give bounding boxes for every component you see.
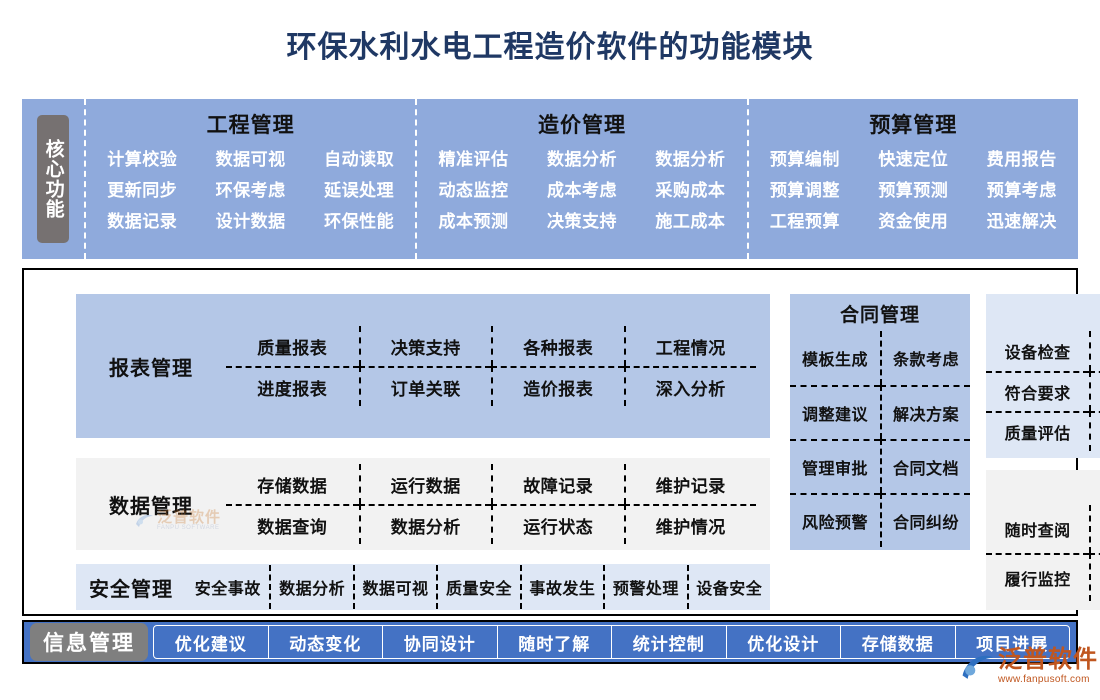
core-cell[interactable]: 预算考虑 (970, 176, 1074, 201)
module-cell[interactable]: 及时补充 (1089, 411, 1100, 451)
core-cell[interactable]: 成本考虑 (530, 176, 634, 201)
core-cell[interactable]: 更新同步 (90, 176, 194, 201)
core-cell[interactable]: 数据记录 (90, 207, 194, 232)
core-cell[interactable]: 环保考虑 (198, 176, 302, 201)
core-cell[interactable]: 数据分析 (530, 145, 634, 170)
module-cell[interactable]: 进度报表 (226, 366, 359, 406)
bottom-bar-item[interactable]: 统计控制 (611, 626, 726, 658)
core-column-grid: 计算校验 数据可视 自动读取 更新同步 环保考虑 延误处理 数据记录 设计数据 … (90, 145, 411, 232)
core-cell[interactable]: 迅速解决 (970, 207, 1074, 232)
module-data-grid: 存储数据 运行数据 故障记录 维护记录 数据查询 数据分析 运行状态 维护情况 (226, 464, 756, 544)
module-cell[interactable]: 经验借鉴 (1089, 505, 1100, 553)
core-cell[interactable]: 数据分析 (638, 145, 742, 170)
module-cell[interactable]: 各种报表 (491, 326, 624, 366)
module-cell[interactable]: 合同纠纷 (880, 493, 970, 547)
module-cell[interactable]: 解决方案 (880, 385, 970, 439)
module-cell[interactable]: 故障记录 (491, 464, 624, 504)
module-cell[interactable]: 履行监控 (986, 553, 1089, 601)
module-quality-grid: 设备检查 统一管理 质量检查 符合要求 设备状况 自动预警 质量评估 及时补充 … (986, 331, 1100, 451)
core-column-title: 造价管理 (538, 109, 626, 139)
module-cell[interactable]: 统一管理 (1089, 331, 1100, 371)
core-cell[interactable]: 动态监控 (421, 176, 525, 201)
core-cell[interactable]: 资金使用 (861, 207, 965, 232)
module-contract-management: 合同管理 模板生成 条款考虑 调整建议 解决方案 管理审批 合同文档 风险预警 … (790, 294, 970, 550)
core-column-grid: 精准评估 数据分析 数据分析 动态监控 成本考虑 采购成本 成本预测 决策支持 … (421, 145, 742, 232)
bottom-bar-item[interactable]: 随时了解 (497, 626, 612, 658)
module-cell[interactable]: 决策支持 (359, 326, 492, 366)
bottom-bar-items: 优化建议 动态变化 协同设计 随时了解 统计控制 优化设计 存储数据 项目进展 (153, 625, 1070, 659)
module-cell[interactable]: 运行状态 (491, 504, 624, 544)
core-cell[interactable]: 计算校验 (90, 145, 194, 170)
module-cell[interactable]: 造价报表 (491, 366, 624, 406)
module-report-management: 报表管理 质量报表 决策支持 各种报表 工程情况 进度报表 订单关联 造价报表 … (76, 294, 770, 438)
module-contract-title: 合同管理 (790, 300, 970, 327)
information-management-bar: 信息管理 优化建议 动态变化 协同设计 随时了解 统计控制 优化设计 存储数据 … (22, 620, 1078, 664)
core-cell[interactable]: 设计数据 (198, 207, 302, 232)
module-data-label: 数据管理 (76, 490, 226, 519)
core-column-title: 预算管理 (869, 109, 957, 139)
bottom-bar-item[interactable]: 优化设计 (726, 626, 841, 658)
core-functions-label: 核心功能 (37, 115, 68, 243)
core-column-title: 工程管理 (207, 109, 295, 139)
core-cell[interactable]: 自动读取 (307, 145, 411, 170)
module-quality-title: 质量管理 (986, 300, 1100, 327)
bottom-bar-item[interactable]: 项目进展 (955, 626, 1070, 658)
module-cell[interactable]: 设备状况 (1089, 371, 1100, 411)
core-cell[interactable]: 精准评估 (421, 145, 525, 170)
page-title: 环保水利水电工程造价软件的功能模块 (0, 0, 1100, 63)
module-cell[interactable]: 数据分析 (359, 504, 492, 544)
core-cell[interactable]: 成本预测 (421, 207, 525, 232)
module-cell[interactable]: 风险预警 (790, 493, 880, 547)
module-cell[interactable]: 数据可视 (353, 565, 436, 609)
core-cell[interactable]: 费用报告 (970, 145, 1074, 170)
core-cell[interactable]: 施工成本 (638, 207, 742, 232)
bottom-bar-item[interactable]: 存储数据 (840, 626, 955, 658)
module-cell[interactable]: 质量安全 (436, 565, 519, 609)
module-quality-management: 质量管理 设备检查 统一管理 质量检查 符合要求 设备状况 自动预警 质量评估 … (986, 294, 1100, 458)
core-cell[interactable]: 数据可视 (198, 145, 302, 170)
module-data-management: 数据管理 存储数据 运行数据 故障记录 维护记录 数据查询 数据分析 运行状态 … (76, 458, 770, 550)
module-cell[interactable]: 质量报表 (226, 326, 359, 366)
module-report-grid: 质量报表 决策支持 各种报表 工程情况 进度报表 订单关联 造价报表 深入分析 (226, 326, 756, 406)
core-cell[interactable]: 采购成本 (638, 176, 742, 201)
module-cell[interactable]: 运行数据 (359, 464, 492, 504)
core-cell[interactable]: 预算调整 (753, 176, 857, 201)
bottom-bar-item[interactable]: 优化建议 (154, 626, 268, 658)
module-document-title: 文档管理 (986, 476, 1100, 503)
module-cell[interactable]: 数据分析 (269, 565, 352, 609)
core-column-budget: 预算管理 预算编制 快速定位 费用报告 预算调整 预算预测 预算考虑 工程预算 … (747, 99, 1078, 259)
module-cell[interactable]: 订单关联 (359, 366, 492, 406)
module-cell[interactable]: 设备安全 (687, 565, 770, 609)
core-cell[interactable]: 延误处理 (307, 176, 411, 201)
core-cell[interactable]: 决策支持 (530, 207, 634, 232)
core-cell[interactable]: 预算预测 (861, 176, 965, 201)
module-cell[interactable]: 法律支持 (1089, 553, 1100, 601)
bottom-bar-item[interactable]: 协同设计 (382, 626, 497, 658)
module-cell[interactable]: 合同文档 (880, 439, 970, 493)
fanpu-logo-url: www.fanpusoft.com (998, 674, 1098, 685)
module-cell[interactable]: 工程情况 (624, 326, 757, 366)
core-functions-panel: 核心功能 工程管理 计算校验 数据可视 自动读取 更新同步 环保考虑 延误处理 … (22, 99, 1078, 259)
module-cell[interactable]: 管理审批 (790, 439, 880, 493)
module-report-label: 报表管理 (76, 352, 226, 381)
core-label-wrapper: 核心功能 (22, 99, 84, 259)
fanpu-watermark-sub: FANPU SOFTWARE (157, 525, 221, 531)
module-cell[interactable]: 安全事故 (186, 565, 269, 609)
module-safety-management: 安全管理 安全事故 数据分析 数据可视 质量安全 事故发生 预警处理 设备安全 (76, 564, 770, 610)
core-column-engineering: 工程管理 计算校验 数据可视 自动读取 更新同步 环保考虑 延误处理 数据记录 … (84, 99, 415, 259)
module-cell[interactable]: 深入分析 (624, 366, 757, 406)
module-cell[interactable]: 数据查询 (226, 504, 359, 544)
module-cell[interactable]: 符合要求 (986, 371, 1089, 411)
core-cell[interactable]: 工程预算 (753, 207, 857, 232)
module-safety-label: 安全管理 (76, 573, 186, 602)
module-cell[interactable]: 设备检查 (986, 331, 1089, 371)
module-cell[interactable]: 条款考虑 (880, 331, 970, 385)
core-cell[interactable]: 预算编制 (753, 145, 857, 170)
core-cell[interactable]: 环保性能 (307, 207, 411, 232)
module-cell[interactable]: 预警处理 (603, 565, 686, 609)
module-cell[interactable]: 质量评估 (986, 411, 1089, 451)
module-document-grid: 随时查阅 经验借鉴 变更管理 履行监控 法律支持 合同知识 (986, 505, 1100, 601)
module-contract-grid: 模板生成 条款考虑 调整建议 解决方案 管理审批 合同文档 风险预警 合同纠纷 (790, 331, 970, 547)
bottom-bar-item[interactable]: 动态变化 (268, 626, 383, 658)
module-safety-grid: 安全事故 数据分析 数据可视 质量安全 事故发生 预警处理 设备安全 (186, 565, 770, 609)
module-cell[interactable]: 维护记录 (624, 464, 757, 504)
module-cell[interactable]: 调整建议 (790, 385, 880, 439)
module-cell[interactable]: 维护情况 (624, 504, 757, 544)
module-cell[interactable]: 模板生成 (790, 331, 880, 385)
bottom-bar-label: 信息管理 (30, 623, 148, 661)
module-cell[interactable]: 事故发生 (520, 565, 603, 609)
module-cell[interactable]: 存储数据 (226, 464, 359, 504)
modules-container: 报表管理 质量报表 决策支持 各种报表 工程情况 进度报表 订单关联 造价报表 … (22, 268, 1078, 616)
core-cell[interactable]: 快速定位 (861, 145, 965, 170)
core-column-cost: 造价管理 精准评估 数据分析 数据分析 动态监控 成本考虑 采购成本 成本预测 … (415, 99, 746, 259)
module-document-management: 文档管理 随时查阅 经验借鉴 变更管理 履行监控 法律支持 合同知识 (986, 470, 1100, 610)
module-cell[interactable]: 随时查阅 (986, 505, 1089, 553)
core-column-grid: 预算编制 快速定位 费用报告 预算调整 预算预测 预算考虑 工程预算 资金使用 … (753, 145, 1074, 232)
